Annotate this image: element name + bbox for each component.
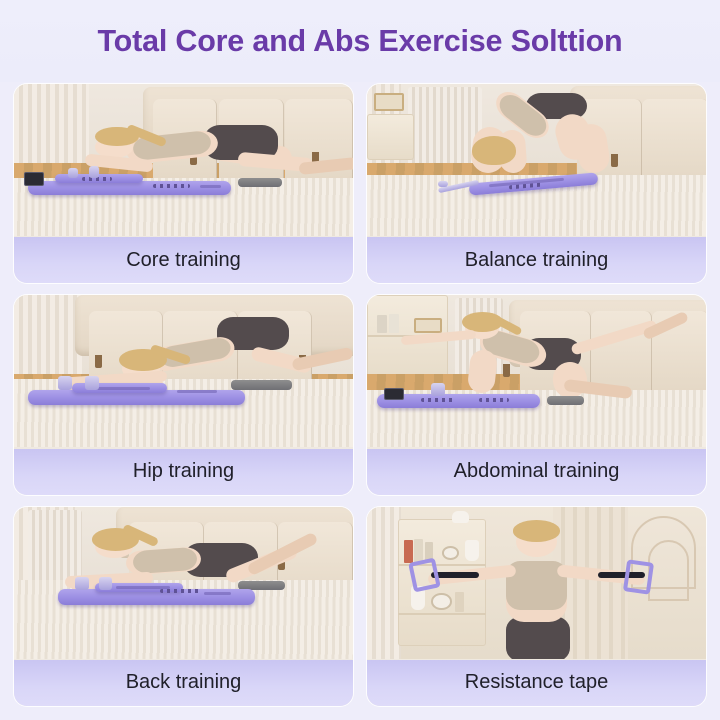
infographic-page: Total Core and Abs Exercise Solttion bbox=[0, 0, 720, 720]
panel-grid: Core training bbox=[0, 82, 720, 720]
photo-core-training bbox=[14, 84, 353, 236]
caption-label: Hip training bbox=[133, 460, 234, 483]
panel-abdominal-training[interactable]: Abdominal training bbox=[367, 295, 706, 494]
panel-core-training[interactable]: Core training bbox=[14, 84, 353, 283]
caption-label: Abdominal training bbox=[454, 460, 620, 483]
caption-label: Core training bbox=[126, 249, 241, 272]
caption-abdominal-training: Abdominal training bbox=[367, 449, 706, 495]
caption-core-training: Core training bbox=[14, 237, 353, 283]
panel-back-training[interactable]: Back training bbox=[14, 507, 353, 706]
caption-label: Resistance tape bbox=[465, 671, 608, 694]
photo-abdominal-training bbox=[367, 295, 706, 447]
panel-resistance-tape[interactable]: Resistance tape bbox=[367, 507, 706, 706]
photo-back-training bbox=[14, 507, 353, 659]
caption-back-training: Back training bbox=[14, 660, 353, 706]
photo-hip-training bbox=[14, 295, 353, 447]
caption-label: Balance training bbox=[465, 249, 608, 272]
caption-resistance-tape: Resistance tape bbox=[367, 660, 706, 706]
caption-hip-training: Hip training bbox=[14, 449, 353, 495]
photo-balance-training bbox=[367, 84, 706, 236]
caption-label: Back training bbox=[126, 671, 242, 694]
panel-hip-training[interactable]: Hip training bbox=[14, 295, 353, 494]
panel-balance-training[interactable]: Balance training bbox=[367, 84, 706, 283]
photo-resistance-tape bbox=[367, 507, 706, 659]
caption-balance-training: Balance training bbox=[367, 237, 706, 283]
title-bar: Total Core and Abs Exercise Solttion bbox=[0, 0, 720, 82]
page-title: Total Core and Abs Exercise Solttion bbox=[98, 24, 623, 59]
